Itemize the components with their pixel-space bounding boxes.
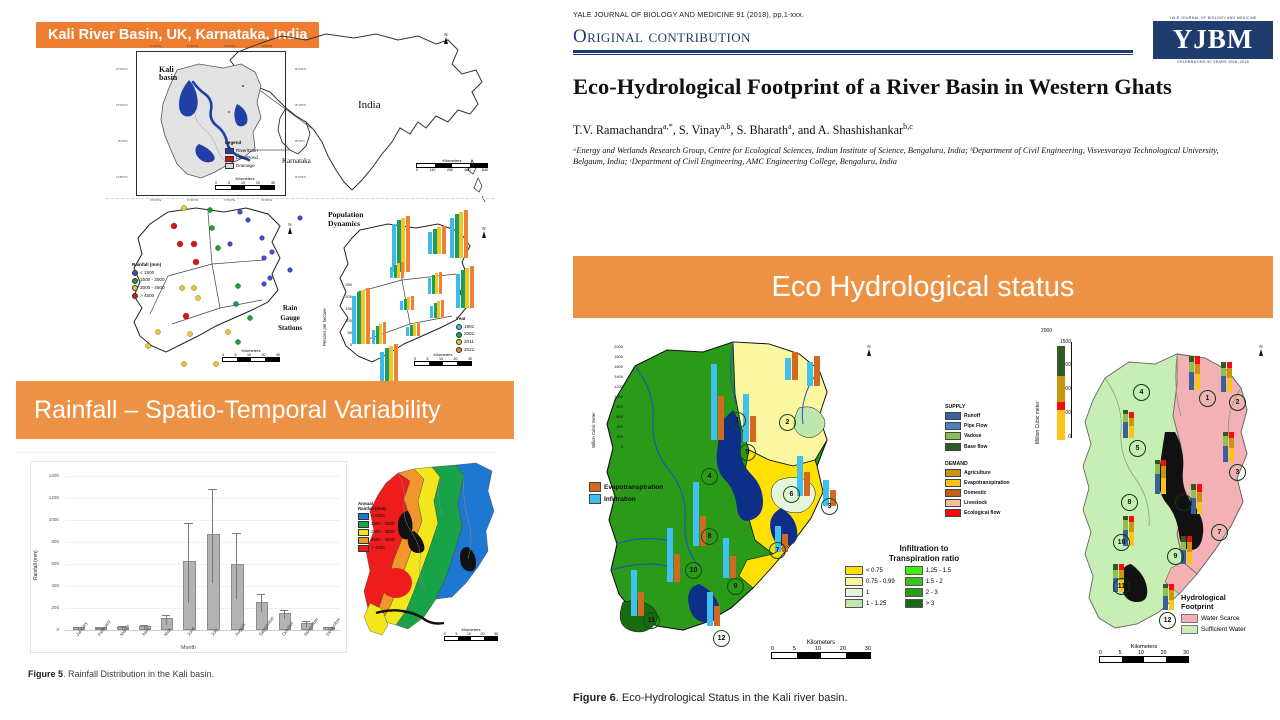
infiltration-transpiration-ratio-legend: Infiltration to Transpiration ratio < 0.… — [845, 544, 1003, 610]
chart-plot-area — [67, 462, 339, 630]
inset-right-coordinates: 15°20'0"N15°10'0"N15°0'0"N14°50'0"N — [294, 52, 306, 195]
subbasin-bars — [707, 592, 720, 626]
population-bar-group — [372, 322, 386, 344]
rainfall-station-legend: Rainfall (mm) < 1500 1500 - 3000 3000 - … — [132, 262, 165, 300]
hf-subbasin-stack — [1221, 362, 1232, 392]
paper-header: YALE JOURNAL OF BIOLOGY AND MEDICINE 91 … — [573, 10, 1273, 250]
population-bar-group — [456, 266, 474, 308]
annual-rainfall-map: Annual Rainfall (mm) < 1500 1500 - 2500 … — [352, 459, 502, 655]
hf-subbasin-stack — [1223, 432, 1234, 462]
reference-stack — [1057, 346, 1065, 440]
scalebar-rain-map: Kilometers 0 5 10 20 30 — [222, 348, 280, 362]
scalebar-india: Kilometers 0 140 280 560 840 — [416, 158, 488, 172]
hf-y-axis-max-label: 2000 — [1041, 328, 1052, 334]
study-map-legend: Legend River/Dam Lake/Pond Drainage — [225, 140, 258, 171]
itr-map-y-axis-title: Million Cubic meter — [591, 412, 596, 448]
subbasin-marker-5: 5 — [739, 444, 756, 461]
demand-legend-item: Evapotranspiration — [945, 479, 1065, 487]
rain-gauge-annotation: Rain Gauge Stations — [278, 304, 302, 333]
population-bar-group — [406, 322, 420, 336]
subbasin-marker-11: 11 — [643, 612, 660, 629]
hf-subbasin-marker-7: 7 — [1211, 524, 1228, 541]
hf-subbasin-marker-12: 12 — [1159, 612, 1176, 629]
north-arrow-population-map: N — [482, 226, 486, 238]
north-arrow-india: N — [444, 32, 448, 44]
supply-legend-item: Base flow — [945, 443, 1065, 451]
subbasin-bars — [631, 570, 644, 616]
hf-subbasin-marker-5: 5 — [1129, 440, 1146, 457]
bar-july — [207, 534, 220, 630]
population-y-axis: 250 200 150 100 50 0 — [332, 284, 352, 344]
hf-subbasin-marker-10: 10 — [1113, 534, 1130, 551]
population-bar-group — [428, 272, 442, 294]
subbasin-marker-2: 2 — [779, 414, 796, 431]
paper-title: Eco-Hydrological Footprint of a River Ba… — [573, 73, 1213, 100]
rainfall-bar-chart: 1400 1200 1000 800 600 400 200 0 Rainfal… — [30, 461, 347, 653]
hydrological-footprint-legend: Hydrological Footprint Water Scarce Suff… — [1181, 594, 1277, 634]
demand-legend-item: Domestic — [945, 489, 1065, 497]
demand-legend-item: Ecological flow — [945, 509, 1065, 517]
subbasin-marker-12: 12 — [713, 630, 730, 647]
hf-subbasin-stack — [1155, 460, 1166, 494]
et-infiltration-legend: Evapotranspiration Infiltration — [589, 482, 663, 506]
population-dynamics-map: Population Dynamics 250 200 150 100 50 0… — [310, 204, 506, 382]
scalebar-population-map: Kilometers 0 5 10 20 30 — [414, 352, 472, 366]
hf-map-y-axis-title: Million Cubic meter — [1035, 401, 1041, 444]
subbasin-marker-6: 6 — [783, 486, 800, 503]
annual-rainfall-choropleth — [352, 459, 502, 655]
subbasin-marker-9: 9 — [727, 578, 744, 595]
figure6-caption: Figure 6. Eco-Hydrological Status in the… — [573, 692, 848, 704]
hf-subbasin-marker-11: 11 — [1113, 578, 1130, 595]
india-label: India — [358, 99, 381, 111]
subbasin-marker-10: 10 — [685, 562, 702, 579]
ratio-legend-right-column: 1.25 - 1.5 1.5 - 2 2 - 3 > 3 — [905, 566, 951, 610]
population-bar-group — [380, 344, 398, 382]
north-arrow-itr-map: N — [867, 344, 871, 356]
infiltration-transpiration-map: 200018001600 140012001000 800600400 2000… — [583, 330, 893, 660]
hf-subbasin-stack — [1123, 410, 1134, 438]
north-arrow-hf-map: N — [1259, 344, 1263, 356]
scalebar-annual-rainfall: Kilometers 0 5 10 20 30 — [444, 627, 498, 641]
subbasin-marker-8: 8 — [701, 528, 718, 545]
header-rule-thin — [573, 54, 1133, 55]
eco-hydrological-status-banner: Eco Hydrological status — [573, 256, 1273, 318]
kali-basin-inset-label: Kali basin — [159, 66, 177, 83]
rain-gauge-station-map: Rainfall (mm) < 1500 1500 - 3000 3000 - … — [112, 204, 310, 382]
hf-subbasin-marker-4: 4 — [1133, 384, 1150, 401]
hf-subbasin-stack — [1163, 584, 1174, 610]
hf-subbasin-marker-3: 3 — [1229, 464, 1246, 481]
subbasin-marker-3: 3 — [821, 498, 838, 515]
yjbm-logo-top-caption: YALE JOURNAL OF BIOLOGY AND MEDICINE — [1153, 16, 1273, 20]
figure5-caption: Figure 5. Rainfall Distribution in the K… — [28, 669, 214, 679]
subbasin-marker-1: 1 — [729, 412, 746, 429]
hf-legend-item: Water Scarce — [1181, 614, 1277, 623]
subbasin-bars — [711, 364, 724, 440]
hf-subbasin-marker-6: 6 — [1175, 494, 1192, 511]
hf-subbasin-stack — [1191, 484, 1202, 514]
demand-legend-item: Agriculture — [945, 469, 1065, 477]
population-y-axis-title: Persons per hectare — [322, 308, 327, 346]
inset-bottom-coordinates: 74°10'0"E74°20'0"E74°30'0"E74°40'0"E — [137, 199, 285, 202]
paper-authors: T.V. Ramachandraa,*, S. Vinaya,b, S. Bha… — [573, 122, 1273, 138]
scalebar-figure6-left: Kilometers 0 5 10 20 30 — [771, 640, 871, 659]
subbasin-marker-7: 7 — [769, 542, 786, 559]
population-bar-group — [390, 262, 404, 278]
hf-subbasin-marker-8: 8 — [1121, 494, 1138, 511]
study-area-map-panel: Kali River Basin, UK, Karnataka, India I… — [16, 8, 494, 380]
population-bar-group — [428, 226, 446, 254]
scalebar-figure6-right: Kilometers 0 5 10 20 30 — [1099, 644, 1189, 663]
panel-divider — [106, 198, 494, 199]
hf-subbasin-marker-2: 2 — [1229, 394, 1246, 411]
kali-basin-inset-frame: 74°10'0"E74°20'0"E74°30'0"E74°40'0"E 74°… — [136, 51, 286, 196]
population-bar-group — [430, 300, 444, 318]
itr-map-y-axis: 200018001600 140012001000 800600400 2000 — [597, 346, 623, 446]
bar-august — [231, 564, 244, 630]
subbasin-marker-4: 4 — [701, 468, 718, 485]
yjbm-logo: YALE JOURNAL OF BIOLOGY AND MEDICINE YJB… — [1153, 16, 1273, 64]
ratio-legend-left-column: < 0.75 0.75 - 0.99 1 1 - 1.25 — [845, 566, 895, 610]
scalebar-inset: Kilometers 0 5 10 20 30 — [215, 176, 275, 190]
rainfall-banner: Rainfall – Spatio-Temporal Variability — [16, 381, 514, 439]
yjbm-logo-bottom-caption: CELEBRATING 90 YEARS 1928–2018 — [1153, 60, 1273, 64]
chart-y-axis-title: Rainfall (mm) — [33, 550, 39, 580]
hf-subbasin-stack — [1189, 356, 1200, 390]
header-rule-thick — [573, 50, 1133, 53]
subbasin-bars — [785, 352, 798, 380]
population-bar-group — [352, 288, 370, 344]
population-year-legend: Year 1991 2001 2011 2021 — [456, 316, 474, 354]
hf-subbasin-marker-9: 9 — [1167, 548, 1184, 565]
population-bar-group — [450, 210, 468, 258]
population-bar-group — [400, 296, 414, 310]
subbasin-bars — [807, 356, 820, 386]
figure6-panel: 200018001600 140012001000 800600400 2000… — [573, 322, 1273, 720]
population-dynamics-title: Population Dynamics — [328, 210, 363, 229]
inset-left-coordinates: 15°20'0"N15°10'0"N15°0'0"N14°50'0"N — [116, 52, 128, 195]
hf-subbasin-marker-1: 1 — [1199, 390, 1216, 407]
chart-x-axis-title: Month — [181, 645, 196, 651]
north-arrow-rain-map: N — [288, 222, 292, 234]
yjbm-logo-mark: YJBM — [1153, 21, 1273, 59]
figure5-panel: 1400 1200 1000 800 600 400 200 0 Rainfal… — [16, 452, 496, 701]
subbasin-bars — [667, 528, 680, 582]
demand-legend-item: Livestock — [945, 499, 1065, 507]
hf-legend-item: Sufficient Water — [1181, 625, 1277, 634]
bar-june — [183, 561, 196, 630]
annual-rainfall-legend: Annual Rainfall (mm) < 1500 1500 - 2500 … — [358, 501, 394, 553]
inset-top-coordinates: 74°10'0"E74°20'0"E74°30'0"E74°40'0"E — [137, 45, 285, 48]
subbasin-bars — [723, 538, 736, 578]
demand-legend-title: DEMAND — [945, 461, 1065, 467]
paper-affiliations: ᵃEnergy and Wetlands Research Group, Cen… — [573, 145, 1223, 168]
